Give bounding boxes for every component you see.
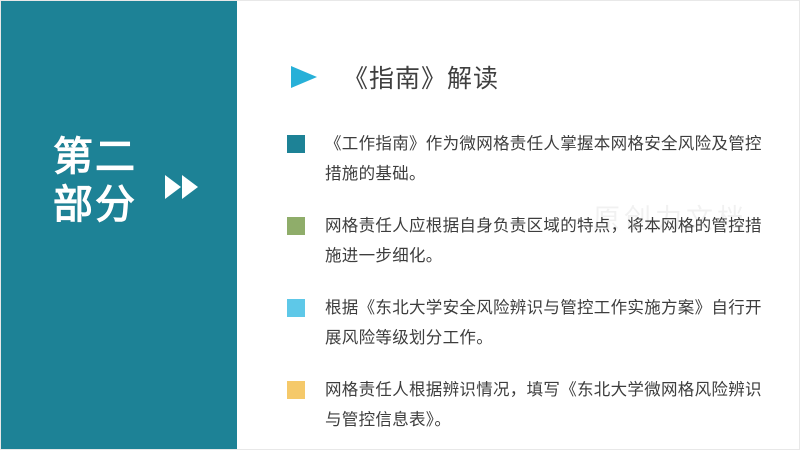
list-item-text: 网格责任人根据辨识情况，填写《东北大学微网格风险辨识与管控信息表》。 xyxy=(325,375,765,435)
list-item: 网格责任人应根据自身负责区域的特点，将本网格的管控措施进一步细化。 xyxy=(287,211,787,271)
content-area: 《指南》解读 《工作指南》作为微网格责任人掌握本网格安全风险及管控措施的基础。 … xyxy=(237,1,800,450)
bullet-marker-icon xyxy=(287,381,305,399)
bullet-list: 《工作指南》作为微网格责任人掌握本网格安全风险及管控措施的基础。 网格责任人应根… xyxy=(287,129,787,450)
bullet-marker-icon xyxy=(287,217,305,235)
left-panel-edge xyxy=(1,1,17,450)
double-chevron-right-icon xyxy=(165,173,205,201)
list-item-text: 《工作指南》作为微网格责任人掌握本网格安全风险及管控措施的基础。 xyxy=(325,129,765,189)
list-item-text: 根据《东北大学安全风险辨识与管控工作实施方案》自行开展风险等级划分工作。 xyxy=(325,293,765,353)
list-item: 《工作指南》作为微网格责任人掌握本网格安全风险及管控措施的基础。 xyxy=(287,129,787,189)
list-item: 网格责任人根据辨识情况，填写《东北大学微网格风险辨识与管控信息表》。 xyxy=(287,375,787,435)
slide-canvas: 第二 部分 《指南》解读 《工作指南》作为微网格责任人掌握本网格安全风险及管控措… xyxy=(0,0,800,450)
bullet-marker-icon xyxy=(287,135,305,153)
page-title: 《指南》解读 xyxy=(343,59,499,95)
bullet-marker-icon xyxy=(287,299,305,317)
play-triangle-icon xyxy=(289,62,319,92)
heading-row: 《指南》解读 xyxy=(289,59,499,95)
section-number-label: 第二 部分 xyxy=(53,133,183,229)
list-item-text: 网格责任人应根据自身负责区域的特点，将本网格的管控措施进一步细化。 xyxy=(325,211,765,271)
list-item: 根据《东北大学安全风险辨识与管控工作实施方案》自行开展风险等级划分工作。 xyxy=(287,293,787,353)
